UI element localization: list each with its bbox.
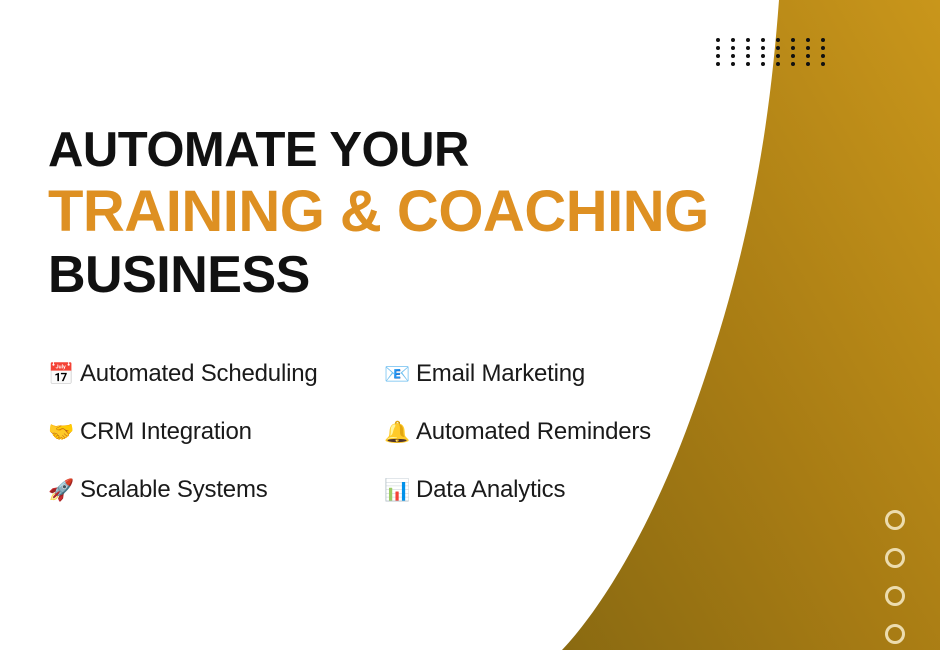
feature-list: 📅 Automated Scheduling 📧 Email Marketing… <box>48 345 708 519</box>
grid-dot <box>791 62 795 66</box>
ring-icon <box>885 586 905 606</box>
handshake-icon: 🤝 <box>48 422 72 443</box>
ring-decoration-group <box>885 510 905 650</box>
grid-dot <box>806 54 810 58</box>
grid-dot <box>791 38 795 42</box>
feature-label: CRM Integration <box>80 418 252 446</box>
bell-icon: 🔔 <box>384 422 408 443</box>
grid-dot <box>731 62 735 66</box>
headline-line-3: BUSINESS <box>48 245 709 306</box>
grid-dot <box>806 38 810 42</box>
grid-dot <box>731 46 735 50</box>
grid-dot <box>776 38 780 42</box>
feature-item-crm-integration: 🤝 CRM Integration <box>48 403 384 461</box>
gold-curve-shape <box>0 0 940 650</box>
grid-dot <box>746 62 750 66</box>
rocket-icon: 🚀 <box>48 480 72 501</box>
feature-label: Automated Scheduling <box>80 360 318 388</box>
grid-dot <box>731 38 735 42</box>
feature-label: Email Marketing <box>416 360 585 388</box>
grid-dot <box>791 54 795 58</box>
grid-dot <box>716 46 720 50</box>
grid-dot <box>776 62 780 66</box>
ring-icon <box>885 548 905 568</box>
grid-dot <box>821 46 825 50</box>
grid-dot <box>821 62 825 66</box>
feature-label: Automated Reminders <box>416 418 651 446</box>
grid-dot <box>746 38 750 42</box>
grid-dot <box>806 46 810 50</box>
dot-grid-decoration <box>716 38 836 70</box>
grid-dot <box>791 46 795 50</box>
grid-dot <box>716 38 720 42</box>
bar-chart-icon: 📊 <box>384 480 408 501</box>
grid-dot <box>806 62 810 66</box>
headline-line-2-accent: TRAINING & COACHING <box>48 180 709 245</box>
grid-dot <box>731 54 735 58</box>
grid-dot <box>746 46 750 50</box>
headline-block: AUTOMATE YOUR TRAINING & COACHING BUSINE… <box>48 122 709 306</box>
grid-dot <box>821 38 825 42</box>
grid-dot <box>716 62 720 66</box>
feature-item-automated-scheduling: 📅 Automated Scheduling <box>48 345 384 403</box>
grid-dot <box>746 54 750 58</box>
grid-dot <box>761 62 765 66</box>
grid-dot <box>776 54 780 58</box>
grid-dot <box>776 46 780 50</box>
feature-label: Scalable Systems <box>80 476 268 504</box>
email-icon: 📧 <box>384 364 408 385</box>
feature-item-email-marketing: 📧 Email Marketing <box>384 345 708 403</box>
feature-item-automated-reminders: 🔔 Automated Reminders <box>384 403 708 461</box>
grid-dot <box>761 46 765 50</box>
ring-icon <box>885 510 905 530</box>
feature-item-data-analytics: 📊 Data Analytics <box>384 461 708 519</box>
grid-dot <box>716 54 720 58</box>
feature-item-scalable-systems: 🚀 Scalable Systems <box>48 461 384 519</box>
promotional-banner: AUTOMATE YOUR TRAINING & COACHING BUSINE… <box>0 0 940 650</box>
feature-label: Data Analytics <box>416 476 565 504</box>
ring-icon <box>885 624 905 644</box>
grid-dot <box>821 54 825 58</box>
grid-dot <box>761 38 765 42</box>
headline-line-1: AUTOMATE YOUR <box>48 122 709 180</box>
grid-dot <box>761 54 765 58</box>
calendar-icon: 📅 <box>48 364 72 385</box>
